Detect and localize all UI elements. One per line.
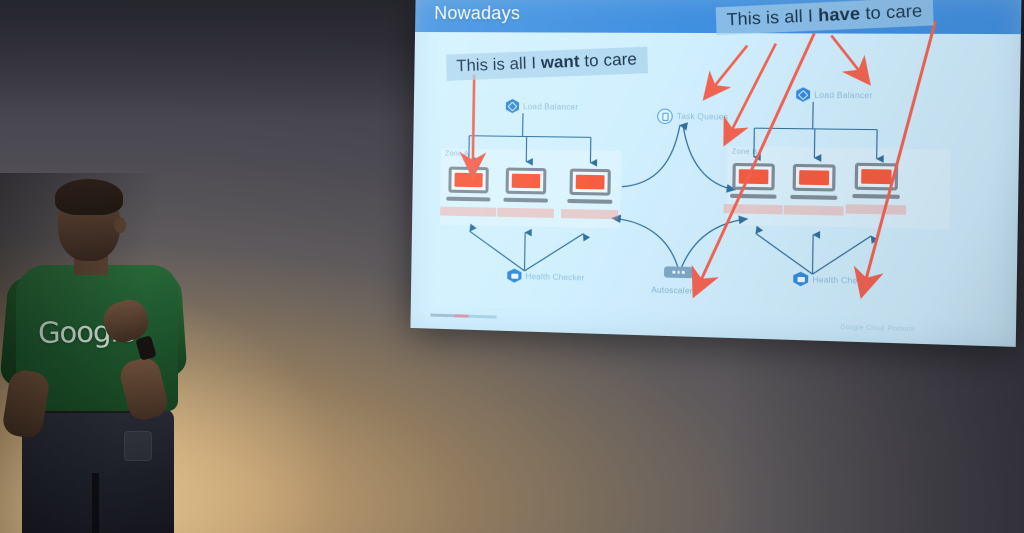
- callout-want-prefix: This is all I: [456, 54, 541, 75]
- screenshot-stage: Nowadays Zone A Zone B: [0, 0, 1024, 533]
- callout-have-emphasis: have: [818, 4, 861, 26]
- callout-want-emphasis: want: [541, 52, 580, 72]
- presenter-shading: [0, 173, 210, 533]
- projection-screen: Nowadays Zone A Zone B: [410, 0, 1021, 347]
- callout-have-prefix: This is all I: [726, 6, 818, 30]
- presenter: Google: [0, 173, 210, 533]
- slide-surface: Nowadays Zone A Zone B: [410, 0, 1021, 347]
- callout-want-suffix: to care: [579, 50, 637, 71]
- callout-have-suffix: to care: [860, 1, 923, 24]
